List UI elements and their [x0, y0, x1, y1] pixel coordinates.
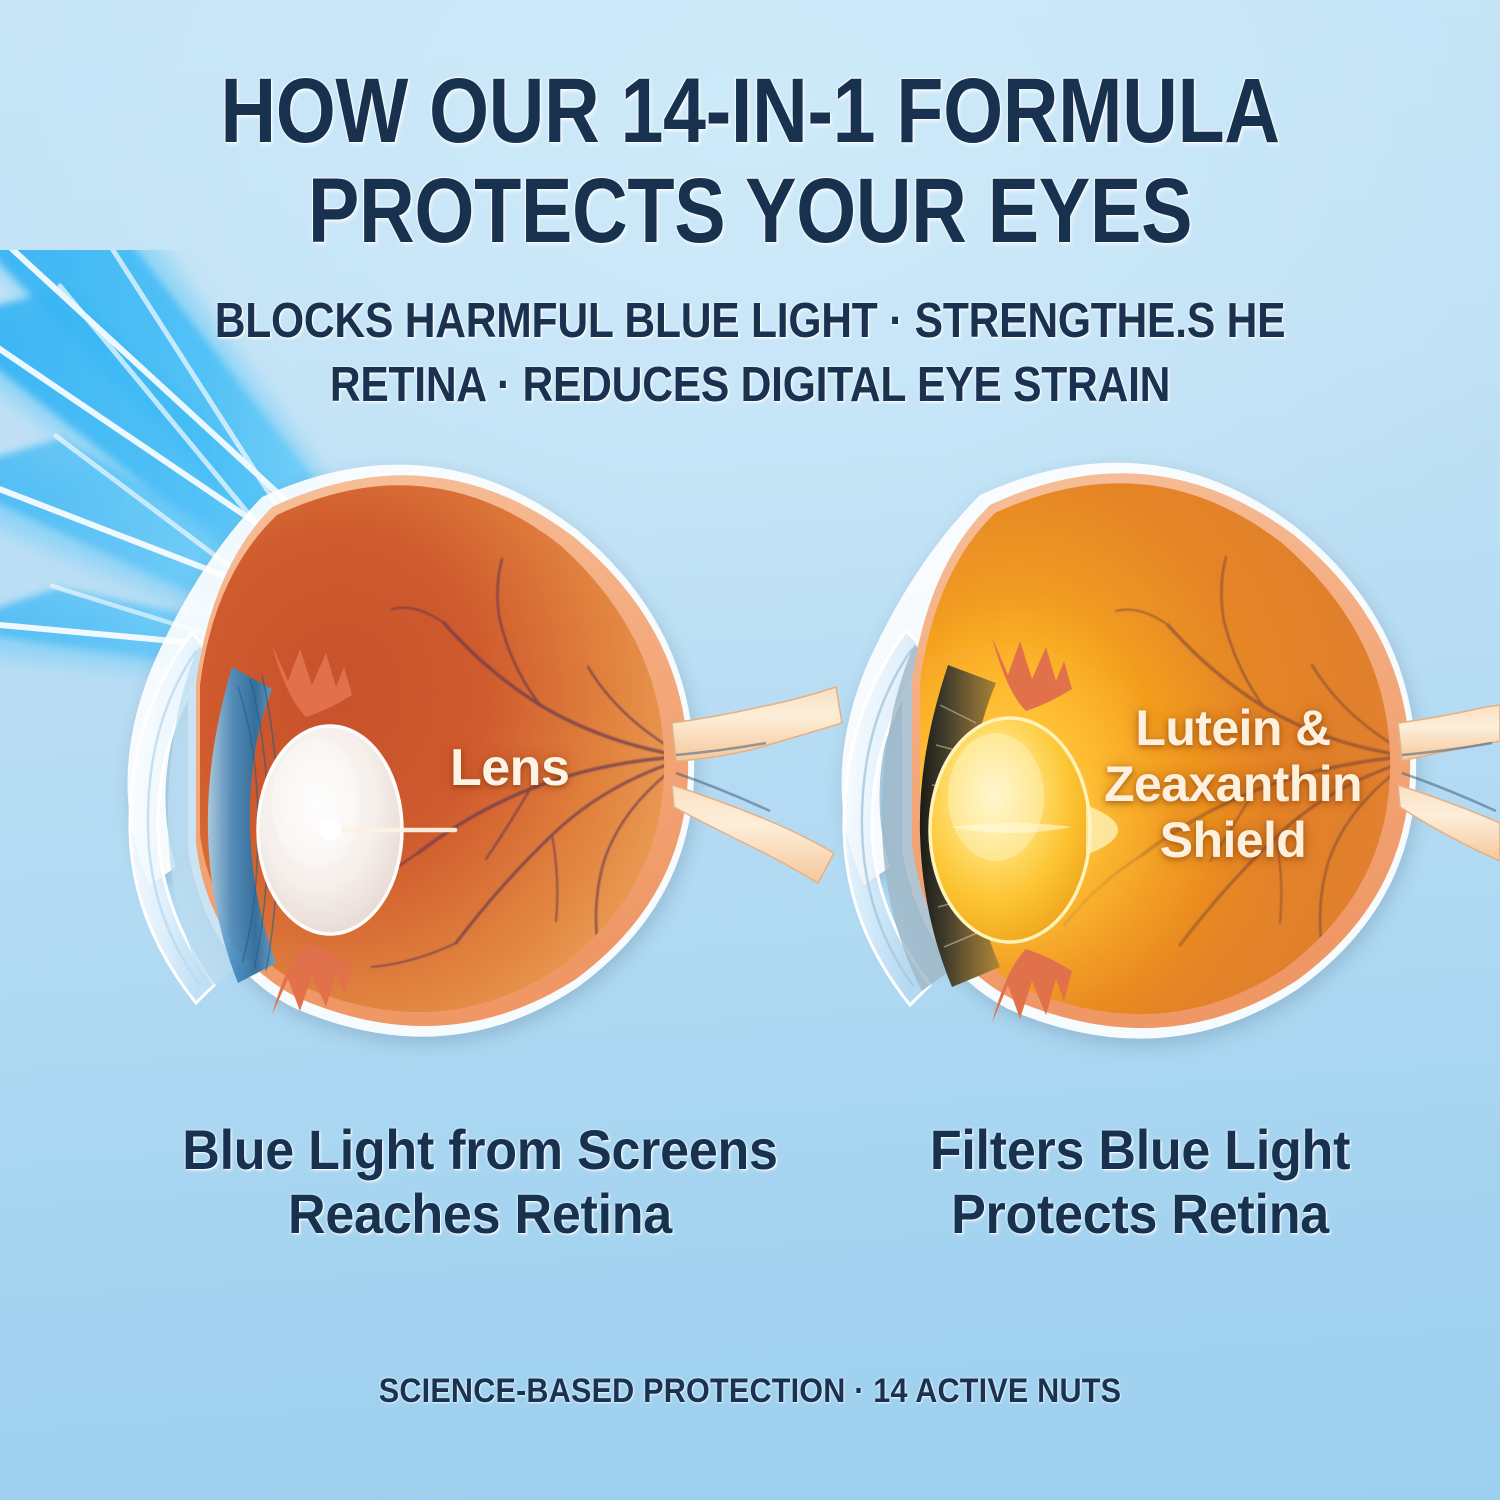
right-caption-line-1: Filters Blue Light — [796, 1118, 1484, 1182]
right-panel-caption: Filters Blue Light Protects Retina — [796, 1118, 1484, 1246]
infographic-poster: HOW OUR 14-IN-1 FORMULA PROTECTS YOUR EY… — [0, 0, 1500, 1500]
page-title-line-2: PROTECTS YOUR EYES — [120, 164, 1380, 260]
lens-callout-label: Lens — [450, 738, 569, 798]
shield-label-line-2: Zeaxanthin — [1068, 756, 1398, 812]
page-subtitle-line-2: RETINA · REDUCES DIGITAL EYE STRAIN — [98, 360, 1403, 412]
footer-tagline: SCIENCE-BASED PROTECTION · 14 ACTIVE NUT… — [75, 1372, 1425, 1411]
left-panel-caption: Blue Light from Screens Reaches Retina — [136, 1118, 824, 1246]
left-caption-line-2: Reaches Retina — [136, 1182, 824, 1246]
right-caption-line-2: Protects Retina — [796, 1182, 1484, 1246]
left-caption-line-1: Blue Light from Screens — [136, 1118, 824, 1182]
lutein-shield-label: Lutein & Zeaxanthin Shield — [1068, 700, 1398, 868]
shield-label-line-3: Shield — [1068, 812, 1398, 868]
shield-label-line-1: Lutein & — [1068, 700, 1398, 756]
page-subtitle-line-1: BLOCKS HARMFUL BLUE LIGHT · STRENGTHE.S … — [98, 296, 1403, 348]
page-title-line-1: HOW OUR 14-IN-1 FORMULA — [120, 64, 1380, 160]
